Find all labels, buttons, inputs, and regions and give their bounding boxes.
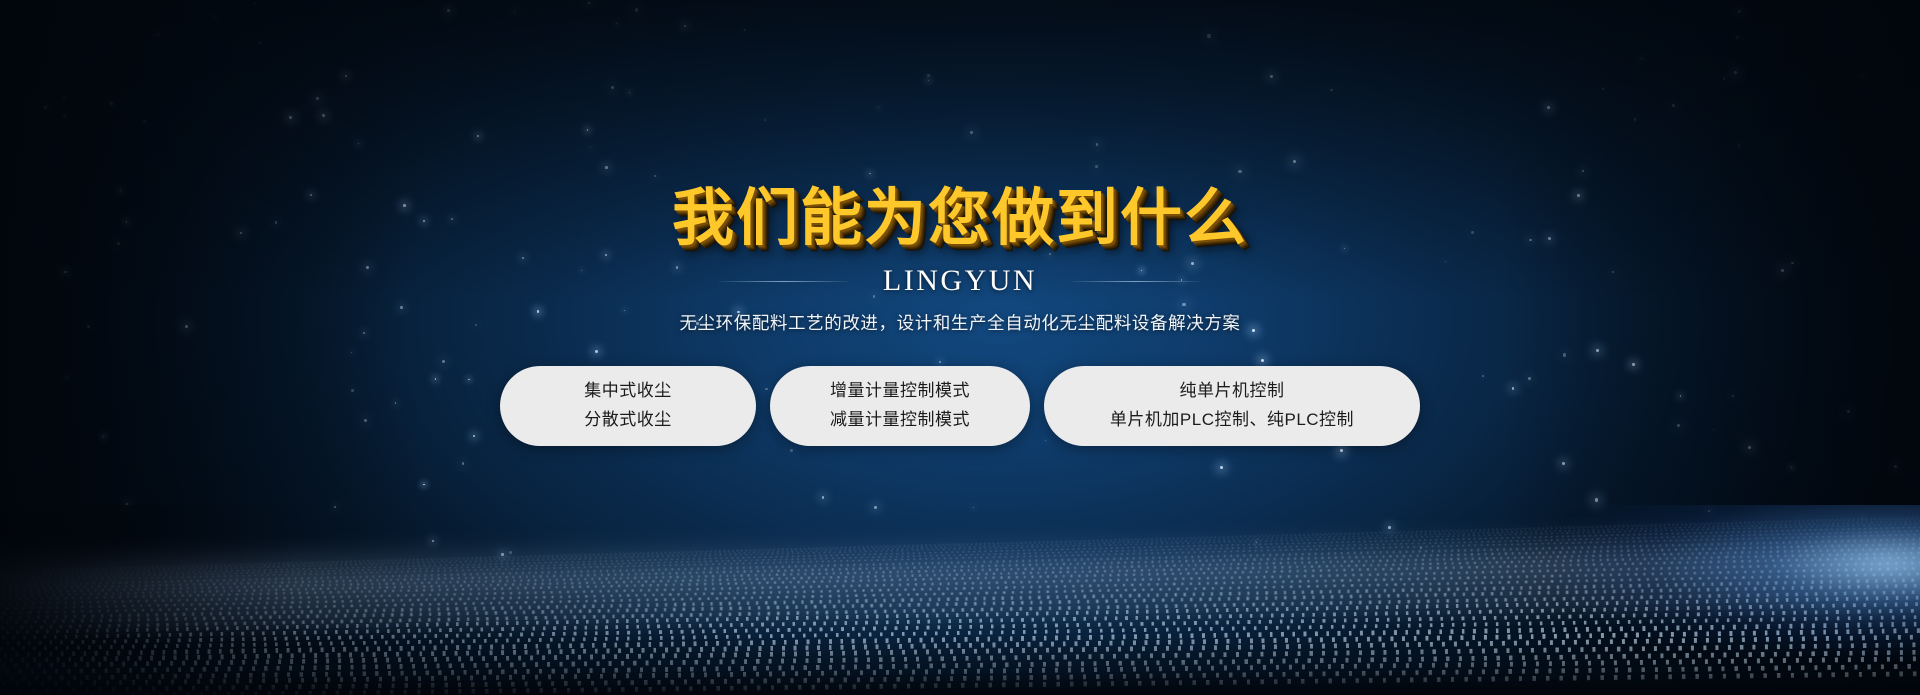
divider-line-right [1071, 281, 1201, 282]
wave-glow-icon [1560, 505, 1920, 655]
feature-card-metering-mode[interactable]: 增量计量控制模式 减量计量控制模式 [770, 366, 1030, 446]
feature-card-line-1: 集中式收尘 [584, 379, 672, 404]
hero-banner: 我们能为您做到什么 LINGYUN 无尘环保配料工艺的改进，设计和生产全自动化无… [0, 0, 1920, 695]
brand-name: LINGYUN [883, 264, 1037, 298]
banner-description: 无尘环保配料工艺的改进，设计和生产全自动化无尘配料设备解决方案 [0, 310, 1920, 335]
wave-bottom-fade [0, 635, 1920, 695]
feature-card-dust-collection[interactable]: 集中式收尘 分散式收尘 [500, 366, 756, 446]
feature-card-list: 集中式收尘 分散式收尘 增量计量控制模式 减量计量控制模式 纯单片机控制 单片机… [0, 366, 1920, 446]
feature-card-line-2: 减量计量控制模式 [830, 408, 970, 433]
feature-card-line-1: 纯单片机控制 [1180, 379, 1285, 404]
brand-divider-row: LINGYUN [0, 264, 1920, 298]
feature-card-line-2: 分散式收尘 [584, 408, 672, 433]
feature-card-line-1: 增量计量控制模式 [830, 379, 970, 404]
page-title: 我们能为您做到什么 [0, 185, 1920, 250]
feature-card-control-system[interactable]: 纯单片机控制 单片机加PLC控制、纯PLC控制 [1044, 366, 1420, 446]
feature-card-line-2: 单片机加PLC控制、纯PLC控制 [1110, 408, 1354, 433]
divider-line-left [719, 281, 849, 282]
particle-wave-decoration [0, 505, 1920, 695]
